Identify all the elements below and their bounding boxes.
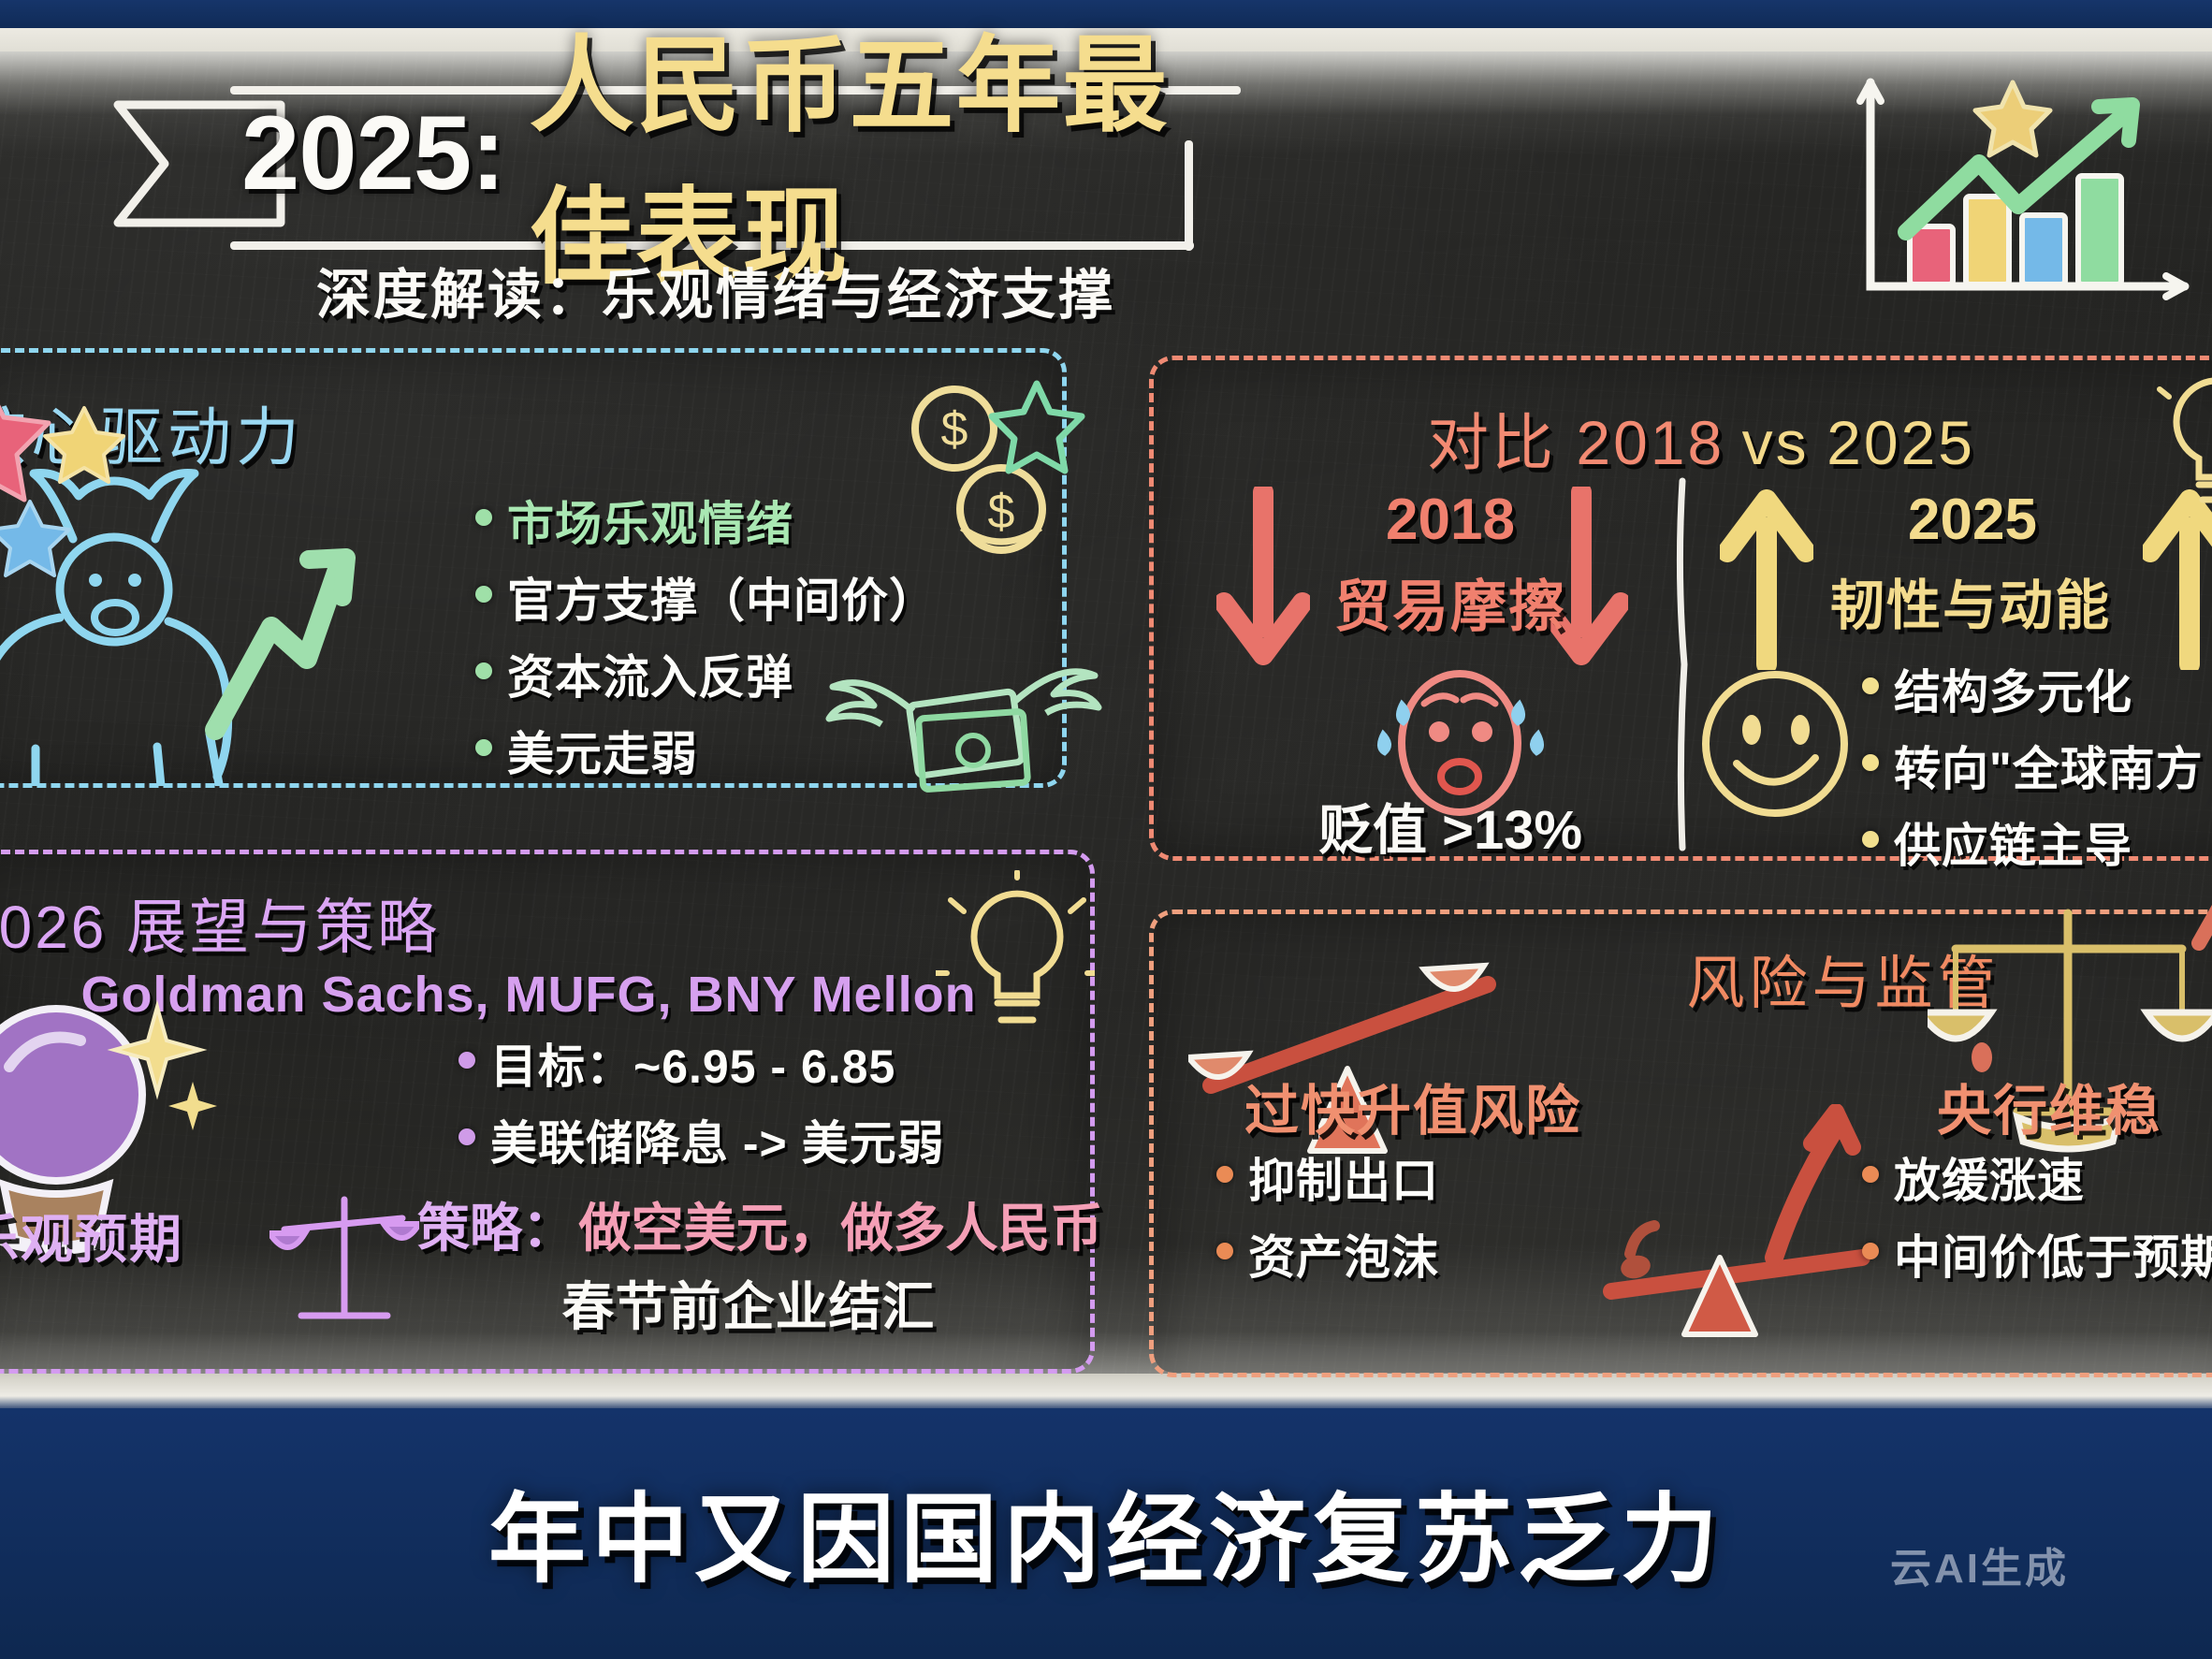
risk-left-heading: 过快升值风险 [1170,1067,1656,1145]
lightbulb-icon [936,870,1095,1048]
list-item: 官方支撑（中间价） [475,563,937,631]
star-icon [0,365,133,589]
list-item: 结构多元化 [1862,655,2204,722]
comparison-2025-year: 2025 [1813,487,2132,553]
growth-bar-chart-icon [1848,65,2204,318]
list-item: 资本流入反弹 [475,640,937,707]
bullet-dot [475,509,492,526]
list-item: 供应链主导 [1862,808,2204,876]
list-item: 转向"全球南方 [1862,732,2204,799]
list-item: 市场乐观情绪 [475,487,937,554]
risk-right-bullets: 放缓涨速 中间价低于预期 [1862,1143,2212,1297]
core-drivers-bullets: 市场乐观情绪 官方支撑（中间价） 资本流入反弹 美元走弱 [475,487,937,793]
strategy-label: 策略： [417,1199,575,1258]
bullet-text: 抑制出口 [1248,1143,1439,1211]
strategy-note: 春节前企业结汇 [393,1265,1104,1341]
comparison-2025-bullets: 结构多元化 转向"全球南方 供应链主导 [1862,655,2204,885]
infographic-canvas: 2025: 人民币五年最佳表现 深度解读：乐观情绪与经济支撑 核心驱动力 [0,0,2212,1659]
outlook-bullets: 目标：~6.95 - 6.85 美联储降息 -> 美元弱 [458,1029,945,1183]
comparison-2018-stat: 贬值 >13% [1254,786,1647,865]
bullet-dot [475,662,492,679]
watermark-label: 云AI生成 [1890,1535,2199,1609]
comparison-2018-year: 2018 [1301,487,1600,553]
bullet-dot [1216,1166,1233,1183]
list-item: 抑制出口 [1216,1143,1439,1211]
comparison-title-vs: vs [1729,408,1823,477]
smiling-face-icon [1686,655,1864,833]
risk-left-bullets: 抑制出口 资产泡沫 [1216,1143,1439,1297]
bottom-paper-edge [0,1374,2212,1411]
list-item: 目标：~6.95 - 6.85 [458,1029,945,1097]
comparison-2025-label: 韧性与动能 [1793,561,2148,640]
bullet-text: 供应链主导 [1894,808,2132,876]
bullet-text: 官方支撑（中间价） [507,563,937,631]
bullet-dot [475,586,492,603]
bullet-dot [1862,1166,1879,1183]
list-item: 美元走弱 [475,717,937,784]
bullet-text: 结构多元化 [1894,655,2132,722]
title-year: 2025: [241,93,504,213]
bullet-dot [1862,1243,1879,1259]
video-caption: 年中又因国内经济复苏乏力 [0,1460,2212,1601]
bullet-dot [1862,831,1879,848]
card-comparison-title: 对比 2018 vs 2025 [1149,393,2212,483]
list-item: 放缓涨速 [1862,1143,2212,1211]
list-item: 美联储降息 -> 美元弱 [458,1106,945,1173]
bullet-text: 美联储降息 -> 美元弱 [490,1106,945,1173]
bullet-text: 目标：~6.95 - 6.85 [490,1029,895,1097]
bullet-text: 市场乐观情绪 [507,487,793,554]
bullet-text: 资本流入反弹 [507,640,793,707]
bullet-text: 转向"全球南方 [1894,732,2204,799]
bullet-dot [1862,677,1879,694]
card-outlook-title: 2026 展望与策略 [0,880,1095,966]
bullet-text: 放缓涨速 [1894,1143,2085,1211]
outlook-side-label: 乐观预期 [0,1198,206,1273]
bullet-dot [475,739,492,756]
page-title: 2025: 人民币五年最佳表现 [241,92,1243,213]
outlook-strategy-row: 策略： 做空美元，做多人民币 [417,1186,1110,1262]
bullet-dot [458,1128,475,1145]
bullet-dot [458,1052,475,1069]
bullet-dot [1216,1243,1233,1259]
strategy-text: 做空美元，做多人民币 [578,1199,1102,1258]
bullet-text: 中间价低于预期 [1894,1220,2212,1288]
bullet-text: 资产泡沫 [1248,1220,1439,1288]
svg-text:$: $ [988,485,1015,539]
risk-right-heading: 央行维稳 [1853,1067,2212,1145]
bullet-dot [1862,754,1879,771]
bullet-text: 美元走弱 [507,717,698,784]
list-item: 中间价低于预期 [1862,1220,2212,1288]
list-item: 资产泡沫 [1216,1220,1439,1288]
up-arrow-icon [1591,1104,1890,1347]
comparison-title-right: 2025 [1826,408,1975,477]
lightbulb-icon [2139,357,2212,526]
page-subtitle: 深度解读：乐观情绪与经济支撑 [234,251,1198,329]
comparison-title-left: 对比 2018 [1427,408,1724,477]
svg-text:$: $ [941,402,968,457]
comparison-2018-label: 贸易摩擦 [1289,561,1611,643]
